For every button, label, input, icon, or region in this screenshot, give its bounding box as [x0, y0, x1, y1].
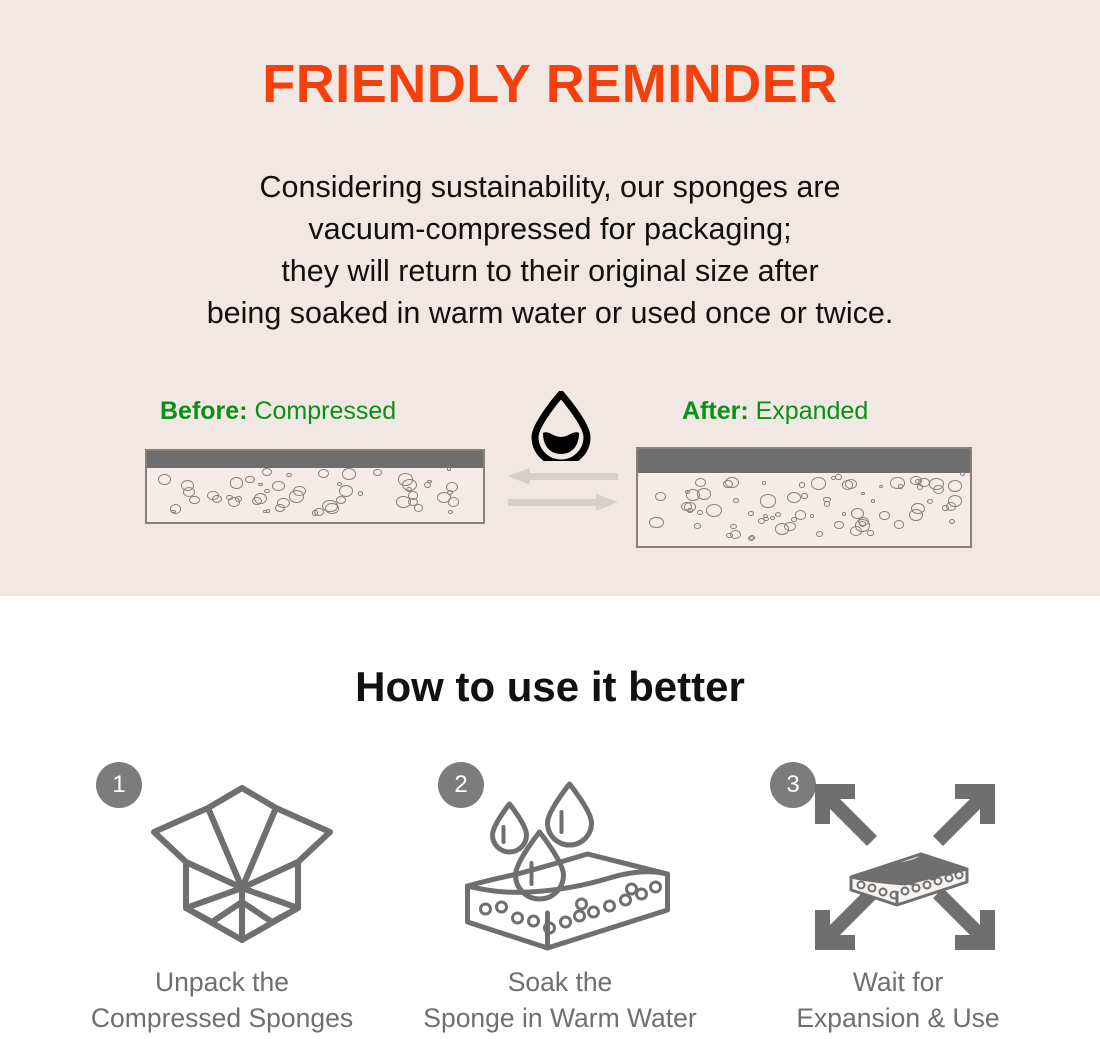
sponge-pore — [730, 524, 737, 530]
sponge-pore — [325, 503, 339, 514]
sponge-pore — [649, 517, 663, 529]
sponge-pores — [638, 449, 970, 546]
sponge-pore — [748, 536, 754, 541]
sponge-pore — [784, 522, 796, 532]
sponge-pore — [263, 510, 267, 514]
expand-arrows-sponge-icon — [805, 772, 1005, 962]
sponge-pore — [927, 499, 934, 504]
step-item-2: 2 — [390, 754, 730, 1034]
sponge-pore — [235, 496, 242, 502]
sponge-pore — [948, 480, 962, 492]
before-label: Before: Compressed — [160, 399, 396, 424]
sponge-pore — [272, 481, 285, 492]
sponge-pore — [723, 480, 733, 488]
sponge-pore — [336, 496, 346, 504]
arrow-right-icon — [508, 494, 618, 511]
sponge-pore — [851, 508, 864, 519]
sponge-pore — [339, 485, 353, 497]
sponge-pore — [252, 497, 262, 505]
sponge-pore — [312, 510, 318, 515]
step-item-3: 3 — [728, 754, 1068, 1034]
infographic-page: FRIENDLY REMINDER Considering sustainabi… — [0, 0, 1100, 1039]
sponge-pore — [262, 468, 272, 477]
body-line-1: Considering sustainability, our sponges … — [0, 166, 1100, 208]
how-to-title: How to use it better — [0, 666, 1100, 708]
sponge-pore — [337, 482, 342, 486]
step-caption-line-1: Soak the — [390, 964, 730, 1000]
sponge-pore — [834, 521, 844, 529]
sponge-pore — [748, 511, 754, 516]
before-label-bold: Before: — [160, 397, 248, 425]
sponge-pore — [706, 504, 722, 517]
step-caption-line-1: Unpack the — [52, 964, 392, 1000]
sponge-pore — [801, 493, 808, 499]
how-to-panel: How to use it better 1 — [0, 596, 1100, 1039]
step-caption-line-2: Sponge in Warm Water — [390, 1000, 730, 1036]
sponge-pore — [697, 510, 703, 515]
sponge-pore — [760, 494, 776, 507]
before-label-value: Compressed — [254, 397, 396, 425]
sponge-pore — [842, 512, 847, 516]
step-caption: Unpack the Compressed Sponges — [52, 964, 392, 1036]
sponge-pore — [871, 499, 876, 503]
body-line-3: they will return to their original size … — [0, 250, 1100, 292]
after-label-value: Expanded — [756, 397, 869, 425]
sponge-pore — [447, 467, 451, 470]
sponge-pore — [933, 485, 944, 494]
sponge-pore — [277, 498, 290, 509]
sponge-pore — [342, 468, 356, 479]
sponge-pore — [230, 477, 244, 488]
sponge-pore — [824, 501, 830, 506]
sponge-pore — [427, 480, 432, 484]
sponge-pore — [791, 517, 797, 522]
sponge-pore — [890, 477, 904, 489]
sponge-pore — [170, 504, 181, 513]
sponge-pore — [447, 490, 453, 495]
sponge-pore — [694, 523, 701, 529]
sponge-pore — [861, 492, 865, 495]
step-caption: Wait for Expansion & Use — [728, 964, 1068, 1036]
sponge-pores — [147, 451, 483, 522]
sponge-pore — [949, 519, 955, 524]
sponge-pore — [770, 516, 775, 520]
step-caption-line-2: Compressed Sponges — [52, 1000, 392, 1036]
body-line-4: being soaked in warm water or used once … — [0, 292, 1100, 334]
sponge-pore — [946, 502, 956, 510]
sponge-pore — [845, 479, 857, 489]
sponge-pore — [758, 518, 765, 524]
step-caption: Soak the Sponge in Warm Water — [390, 964, 730, 1036]
sponge-pore — [286, 473, 292, 478]
water-drop-icon — [524, 391, 598, 461]
sponge-pore — [396, 496, 411, 508]
arrow-left-icon — [508, 468, 618, 485]
sponge-pore — [264, 489, 269, 493]
sponge-pore — [373, 469, 382, 476]
sponge-pore — [684, 502, 696, 512]
sponge-pore — [811, 477, 827, 490]
sponge-pore — [448, 510, 454, 515]
step-caption-line-1: Wait for — [728, 964, 1068, 1000]
sponge-pore — [358, 491, 364, 496]
sponge-pore — [697, 488, 711, 499]
sponge-pore — [158, 474, 171, 485]
water-drops-on-sponge-icon — [459, 770, 674, 960]
sponge-pore — [835, 474, 842, 479]
page-title: FRIENDLY REMINDER — [0, 57, 1100, 111]
sponge-pore — [289, 490, 304, 502]
open-box-icon — [142, 780, 342, 960]
sponge-pore — [879, 485, 883, 489]
sponge-pore — [207, 491, 219, 501]
sponge-pore — [398, 473, 414, 486]
sponge-pore — [189, 496, 199, 504]
sponge-pore — [245, 476, 254, 484]
sponge-pore — [894, 520, 904, 528]
sponge-pore — [655, 492, 666, 501]
reminder-body-text: Considering sustainability, our sponges … — [0, 166, 1100, 334]
expanded-sponge-graphic — [636, 447, 972, 548]
sponge-pore — [733, 498, 739, 503]
step-caption-line-2: Expansion & Use — [728, 1000, 1068, 1036]
compressed-sponge-graphic — [145, 449, 485, 524]
sponge-pore — [816, 531, 823, 537]
sponge-pore — [810, 514, 814, 517]
sponge-pore — [258, 483, 262, 487]
step-number-badge: 1 — [96, 762, 142, 808]
sponge-pore — [960, 472, 965, 476]
body-line-2: vacuum-compressed for packaging; — [0, 208, 1100, 250]
after-label-bold: After: — [682, 397, 749, 425]
sponge-pore — [917, 484, 923, 489]
sponge-pore — [318, 469, 329, 478]
sponge-pore — [414, 504, 424, 512]
sponge-pore — [787, 492, 801, 503]
sponge-pore — [424, 482, 431, 488]
sponge-pore — [695, 478, 707, 488]
transfer-arrows-group — [508, 468, 618, 516]
sponge-pore — [909, 509, 924, 521]
sponge-pore — [226, 495, 233, 500]
sponge-pore — [799, 482, 805, 487]
step-item-1: 1 — [52, 754, 392, 1034]
sponge-pore — [867, 530, 873, 535]
sponge-pore — [775, 512, 781, 517]
after-label: After: Expanded — [682, 399, 868, 424]
sponge-pore — [448, 497, 460, 507]
reminder-panel: FRIENDLY REMINDER Considering sustainabi… — [0, 0, 1100, 596]
sponge-pore — [879, 511, 889, 520]
sponge-pore — [762, 481, 766, 484]
